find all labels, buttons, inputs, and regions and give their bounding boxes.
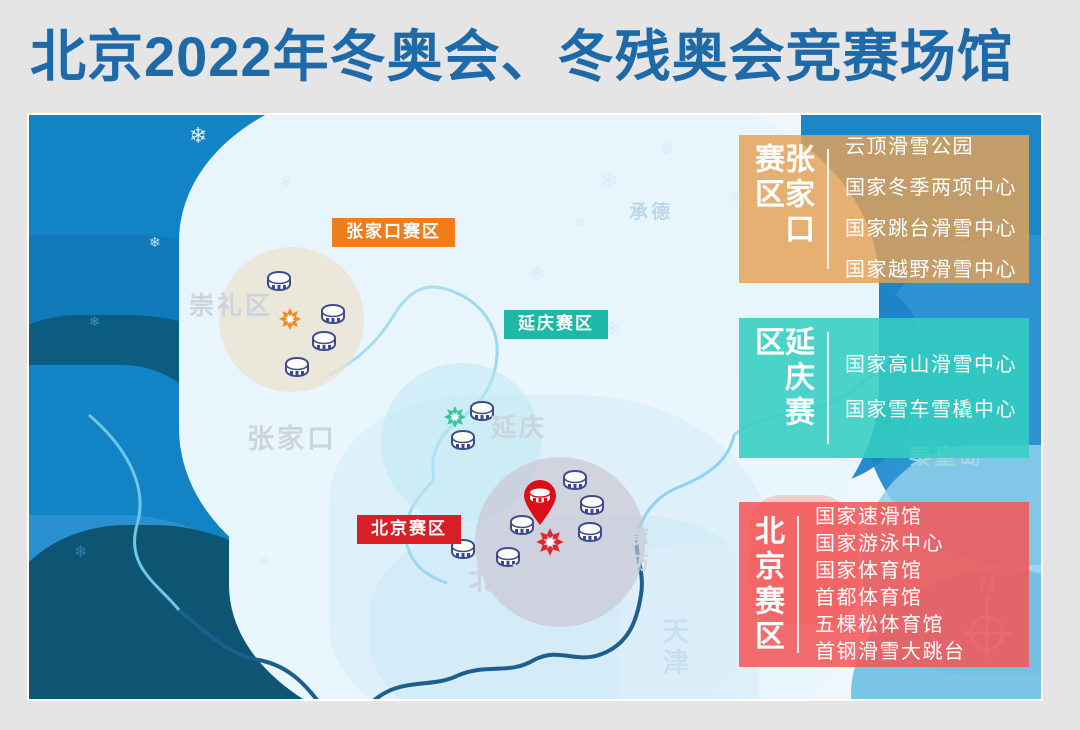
zone-tag-yanqing[interactable]: 延庆赛区 <box>504 310 608 339</box>
legend-venue-item: 云顶滑雪公园 <box>845 136 1017 159</box>
snowflake-icon: ❄ <box>259 555 270 568</box>
stadium-icon[interactable] <box>320 304 346 324</box>
stadium-icon[interactable] <box>577 522 603 542</box>
snowflake-icon: ❄ <box>599 170 619 194</box>
snowflake-icon: ❄ <box>149 235 161 249</box>
legend-venue-item: 国家冬季两项中心 <box>845 177 1017 200</box>
map-container[interactable]: ❄ ❄ ❄ ❄ ❄ ❄ ❄ ❄ ❄ ❄ ❄ ❄ <box>27 113 1043 701</box>
legend-venue-item: 国家跳台滑雪中心 <box>845 218 1017 241</box>
stadium-icon[interactable] <box>284 357 310 377</box>
legend-divider <box>827 332 829 444</box>
legend-venue-item: 五棵松体育馆 <box>815 614 1015 637</box>
geo-label-beijing: 北京 <box>469 565 533 595</box>
snowflake-icon: ❄ <box>74 545 87 561</box>
legend-divider <box>797 516 799 653</box>
geo-label-chongli: 崇礼区 <box>189 293 273 319</box>
snowflake-icon <box>278 307 302 331</box>
legend-venue-item: 国家体育馆 <box>815 560 1015 583</box>
snowflake-icon <box>443 405 467 429</box>
legend-venue-item: 首都体育馆 <box>815 587 1015 610</box>
snowflake-icon: ❄ <box>279 175 292 191</box>
legend-venue-item: 国家雪车雪橇中心 <box>845 399 1017 422</box>
legend-panel-title-yanqing: 延庆赛区 <box>739 318 819 458</box>
legend-venue-list-yanqing: 国家高山滑雪中心 国家雪车雪橇中心 <box>845 318 1031 458</box>
geo-label-zhangjiakou: 张家口 <box>247 425 337 453</box>
legend-venue-item: 国家游泳中心 <box>815 533 1015 556</box>
stadium-icon[interactable] <box>562 470 588 490</box>
legend-panel-title-beijing: 北京赛区 <box>739 502 789 667</box>
zone-tag-beijing[interactable]: 北京赛区 <box>357 515 461 544</box>
geo-label-yanqing: 延庆 <box>491 415 547 441</box>
snowflake-icon: ❄ <box>574 215 586 229</box>
snowflake-icon: ❄ <box>659 140 674 158</box>
legend-venue-item: 国家速滑馆 <box>815 506 1015 529</box>
legend-panel-beijing[interactable]: 北京赛区 国家速滑馆 国家游泳中心 国家体育馆 首都体育馆 五棵松体育馆 首钢滑… <box>739 502 1029 667</box>
page-title: 北京2022年冬奥会、冬残奥会竞赛场馆 <box>30 18 1050 96</box>
stadium-icon[interactable] <box>311 331 337 351</box>
snowflake-icon: ❄ <box>189 125 207 147</box>
legend-venue-item: 国家越野滑雪中心 <box>845 259 1017 282</box>
snowflake-icon: ❄ <box>89 315 100 328</box>
legend-panel-title-zhangjiakou: 张家口赛区 <box>739 135 819 283</box>
legend-venue-list-beijing: 国家速滑馆 国家游泳中心 国家体育馆 首都体育馆 五棵松体育馆 首钢滑雪大跳台 <box>815 502 1029 667</box>
geo-label-langfang: 廊坊 <box>625 527 646 575</box>
legend-panel-yanqing[interactable]: 延庆赛区 国家高山滑雪中心 国家雪车雪橇中心 <box>739 318 1029 458</box>
legend-venue-item: 首钢滑雪大跳台 <box>815 641 1015 664</box>
stadium-icon[interactable] <box>579 495 605 515</box>
legend-venue-list-zhangjiakou: 云顶滑雪公园 国家冬季两项中心 国家跳台滑雪中心 国家越野滑雪中心 <box>845 135 1031 283</box>
legend-divider <box>827 149 829 269</box>
snowflake-icon <box>535 527 565 557</box>
stadium-icon[interactable] <box>450 430 476 450</box>
legend-panel-zhangjiakou[interactable]: 张家口赛区 云顶滑雪公园 国家冬季两项中心 国家跳台滑雪中心 国家越野滑雪中心 <box>739 135 1029 283</box>
zone-tag-zhangjiakou[interactable]: 张家口赛区 <box>332 218 455 247</box>
geo-label-tianjin: 天津 <box>659 617 687 679</box>
map-pin-icon[interactable] <box>521 478 559 526</box>
snowflake-icon: ❄ <box>529 265 546 285</box>
stadium-icon[interactable] <box>266 271 292 291</box>
infographic-root: 北京2022年冬奥会、冬残奥会竞赛场馆 <box>0 0 1080 730</box>
legend-venue-item: 国家高山滑雪中心 <box>845 354 1017 377</box>
geo-label-chengde: 承德 <box>629 203 673 223</box>
